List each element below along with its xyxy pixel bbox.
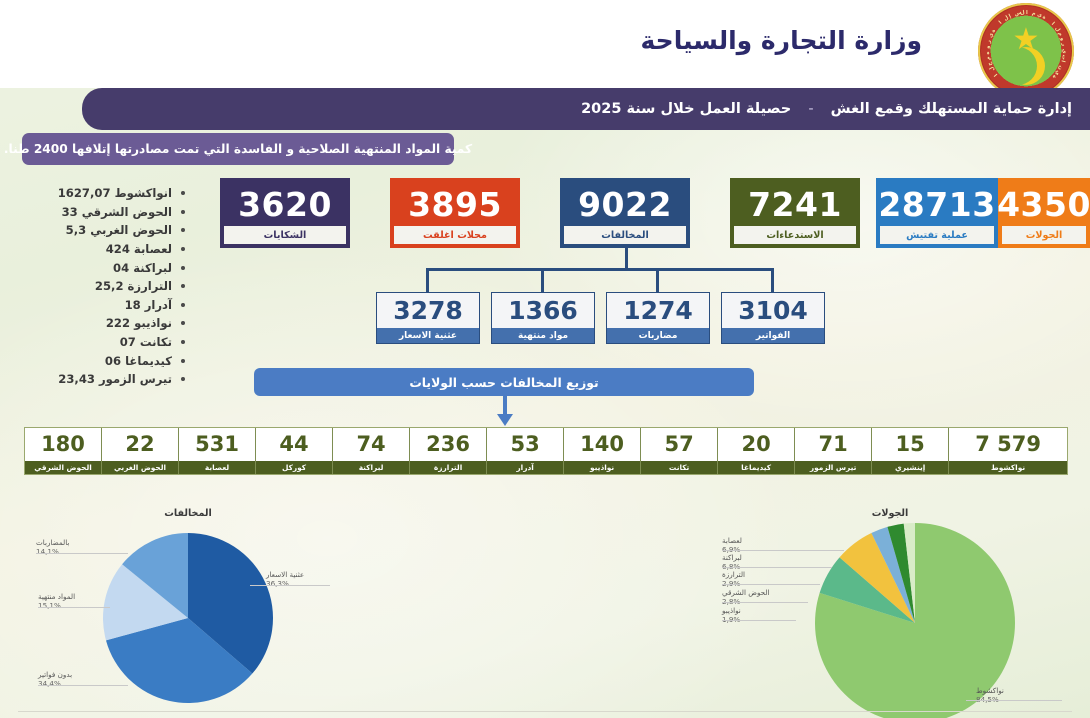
- state-label: تكانت: [641, 461, 717, 474]
- pie-leader-line: [722, 584, 820, 585]
- state-value: 20: [718, 428, 794, 461]
- violations-pie-title: المخالفات: [28, 508, 348, 519]
- section-ribbon: إدارة حماية المستهلك وقمع الغش - حصيلة ا…: [82, 88, 1090, 130]
- kpi-value: 4350: [1002, 182, 1086, 226]
- state-value: 22: [102, 428, 178, 461]
- table-row[interactable]: 7 579نواكشوط: [948, 428, 1067, 474]
- pie-leader-line: [966, 700, 1062, 701]
- kpi-card[interactable]: 9022المخالفات: [560, 178, 690, 248]
- bullet-dot-icon: [181, 228, 185, 232]
- state-label: كوركل: [256, 461, 332, 474]
- seized-item-text: كيديماغا 06: [105, 354, 172, 368]
- kpi-card[interactable]: 3895محلات اغلقت: [390, 178, 520, 248]
- ribbon-department: إدارة حماية المستهلك وقمع الغش: [831, 101, 1072, 117]
- violation-breakdown-card[interactable]: 1274مضاربات: [606, 292, 710, 344]
- seized-goods-banner: كمية المواد المنتهية الصلاحية و الفاسدة …: [22, 133, 454, 165]
- pie-label: نواذيبو1,9%: [722, 606, 741, 624]
- table-row[interactable]: 53آدرار: [486, 428, 563, 474]
- pie-leader-line: [38, 685, 128, 686]
- bullet-dot-icon: [181, 210, 185, 214]
- connector-vertical-main: [625, 248, 628, 270]
- table-row[interactable]: 22الحوض الغربي: [101, 428, 178, 474]
- tours-pie-chart: الجولات لعصابة6,9%لبراكنة6,8%الترارزة2,9…: [700, 508, 1080, 718]
- pie-label-name: لعصابة: [722, 536, 742, 545]
- violation-breakdown-label: الفواتير: [722, 328, 824, 343]
- table-row[interactable]: 71تيرس الزمور: [794, 428, 871, 474]
- pie-label-name: لبراكنة: [722, 553, 742, 562]
- list-item: لعصابة 424: [13, 240, 185, 259]
- state-label: تيرس الزمور: [795, 461, 871, 474]
- page-header: وزارة التجارة والسياحة ★ الجمهورية الإسل…: [0, 0, 1090, 88]
- table-row[interactable]: 531لعصابة: [178, 428, 255, 474]
- seized-item-text: آدرار 18: [125, 298, 172, 312]
- bullet-dot-icon: [181, 191, 185, 195]
- state-label: الحوض الغربي: [102, 461, 178, 474]
- state-value: 57: [641, 428, 717, 461]
- state-value: 15: [872, 428, 948, 461]
- emblem-ring-text: الجمهورية الإسلامية الموريتانية: [978, 3, 1074, 99]
- state-label: نواكشوط: [949, 461, 1067, 474]
- violation-breakdown-label: عثنية الاسعار: [377, 328, 479, 343]
- pie-label: نواكشوط84,5%: [976, 686, 1004, 704]
- kpi-value: 7241: [734, 182, 856, 226]
- violation-breakdown-card[interactable]: 1366مواد منتهية: [491, 292, 595, 344]
- table-row[interactable]: 20كيديماغا: [717, 428, 794, 474]
- bottom-divider: [18, 711, 1072, 712]
- pie-label-value: 15,1%: [38, 601, 75, 610]
- state-label: لبراكنة: [333, 461, 409, 474]
- state-label: الحوض الشرقي: [25, 461, 101, 474]
- infographic-page: وزارة التجارة والسياحة ★ الجمهورية الإسل…: [0, 0, 1090, 718]
- bullet-dot-icon: [181, 247, 185, 251]
- table-row[interactable]: 15إينشيري: [871, 428, 948, 474]
- seized-item-text: انواكشوط 1627,07: [58, 186, 172, 200]
- kpi-label: عملية تفتيش: [880, 226, 994, 244]
- connector-horizontal: [426, 268, 774, 271]
- pie-label: لعصابة6,9%: [722, 536, 742, 554]
- state-label: الترارزة: [410, 461, 486, 474]
- table-row[interactable]: 140نواذيبو: [563, 428, 640, 474]
- pie-label-name: نواذيبو: [722, 606, 741, 615]
- list-item: نواذيبو 222: [13, 314, 185, 333]
- table-row[interactable]: 236الترارزة: [409, 428, 486, 474]
- connector-drop-2: [541, 268, 544, 292]
- seized-item-text: لبراكنة 04: [113, 261, 172, 275]
- bullet-dot-icon: [181, 266, 185, 270]
- state-label: إينشيري: [872, 461, 948, 474]
- states-table: 7 579نواكشوط15إينشيري71تيرس الزمور20كيدي…: [24, 427, 1068, 475]
- state-value: 531: [179, 428, 255, 461]
- arrow-down-icon: [497, 396, 513, 426]
- pie-label-name: المواد منتهية: [38, 592, 75, 601]
- seized-item-text: الترارزة 25,2: [95, 279, 172, 293]
- violation-breakdown-value: 3104: [722, 293, 824, 328]
- pie-label-value: 36,3%: [266, 579, 304, 588]
- kpi-value: 9022: [564, 182, 686, 226]
- state-value: 180: [25, 428, 101, 461]
- state-label: لعصابة: [179, 461, 255, 474]
- state-label: نواذيبو: [564, 461, 640, 474]
- violation-breakdown-card[interactable]: 3278عثنية الاسعار: [376, 292, 480, 344]
- pie-label: لبراكنة6,8%: [722, 553, 742, 571]
- list-item: الحوض الغربي 5,3: [13, 221, 185, 240]
- states-distribution-label: توزيع المخالفات حسب الولايات: [409, 375, 598, 390]
- national-emblem-icon: ★ الجمهورية الإسلامية الموريتانية: [978, 3, 1074, 99]
- pie-label-name: بدون فواتير: [38, 670, 72, 679]
- kpi-card[interactable]: 4350الجولات: [998, 178, 1090, 248]
- ribbon-text: إدارة حماية المستهلك وقمع الغش - حصيلة ا…: [581, 101, 1072, 117]
- state-value: 71: [795, 428, 871, 461]
- violation-breakdown-value: 1274: [607, 293, 709, 328]
- pie-leader-line: [722, 567, 832, 568]
- pie-label: الترارزة2,9%: [722, 570, 745, 588]
- seized-item-text: تيرس الزمور 23,43: [58, 372, 172, 386]
- kpi-card[interactable]: 28713عملية تفتيش: [876, 178, 998, 248]
- state-value: 53: [487, 428, 563, 461]
- state-value: 236: [410, 428, 486, 461]
- kpi-label: الشكايات: [224, 226, 346, 244]
- pie-leader-line: [36, 553, 128, 554]
- list-item: انواكشوط 1627,07: [13, 184, 185, 203]
- bullet-dot-icon: [181, 359, 185, 363]
- pie-label: الحوض الشرقي2,8%: [722, 588, 770, 606]
- pie-label-name: بالمضاربات: [36, 538, 69, 547]
- seized-goods-list: انواكشوط 1627,07الحوض الشرقي 33الحوض الغ…: [13, 184, 185, 389]
- seized-item-text: تكانت 07: [120, 335, 172, 349]
- state-value: 140: [564, 428, 640, 461]
- seized-goods-banner-label: كمية المواد المنتهية الصلاحية و الفاسدة …: [4, 142, 472, 156]
- states-distribution-banner: توزيع المخالفات حسب الولايات: [254, 368, 754, 396]
- violation-breakdown-value: 3278: [377, 293, 479, 328]
- pie-label-name: الترارزة: [722, 570, 745, 579]
- violation-breakdown-value: 1366: [492, 293, 594, 328]
- list-item: تكانت 07: [13, 333, 185, 352]
- bullet-dot-icon: [181, 377, 185, 381]
- kpi-value: 3895: [394, 182, 516, 226]
- violation-breakdown-label: مواد منتهية: [492, 328, 594, 343]
- kpi-value: 3620: [224, 182, 346, 226]
- state-value: 74: [333, 428, 409, 461]
- bullet-dot-icon: [181, 284, 185, 288]
- bullet-dot-icon: [181, 303, 185, 307]
- tours-pie-svg: [700, 508, 1080, 718]
- seized-item-text: لعصابة 424: [106, 242, 172, 256]
- kpi-card[interactable]: 3620الشكايات: [220, 178, 350, 248]
- connector-drop-1: [426, 268, 429, 292]
- pie-label-value: 34,4%: [38, 679, 72, 688]
- seized-item-text: الحوض الغربي 5,3: [66, 223, 172, 237]
- kpi-label: المخالفات: [564, 226, 686, 244]
- list-item: كيديماغا 06: [13, 351, 185, 370]
- list-item: آدرار 18: [13, 296, 185, 315]
- pie-leader-line: [722, 620, 796, 621]
- connector-drop-4: [771, 268, 774, 292]
- table-row[interactable]: 74لبراكنة: [332, 428, 409, 474]
- table-row[interactable]: 44كوركل: [255, 428, 332, 474]
- pie-leader-line: [722, 602, 808, 603]
- pie-leader-line: [250, 585, 330, 586]
- bullet-dot-icon: [181, 321, 185, 325]
- pie-leader-line: [722, 550, 844, 551]
- state-value: 7 579: [949, 428, 1067, 461]
- kpi-value: 28713: [880, 182, 994, 226]
- state-label: كيديماغا: [718, 461, 794, 474]
- connector-drop-3: [656, 268, 659, 292]
- pie-label-name: عثنية الاسعار: [266, 570, 304, 579]
- table-row[interactable]: 180الحوض الشرقي: [25, 428, 101, 474]
- page-title: وزارة التجارة والسياحة: [641, 26, 922, 55]
- state-label: آدرار: [487, 461, 563, 474]
- violation-breakdown-label: مضاربات: [607, 328, 709, 343]
- kpi-card[interactable]: 7241الاستدعاءات: [730, 178, 860, 248]
- ribbon-subject: حصيلة العمل خلال سنة 2025: [581, 101, 791, 117]
- list-item: لبراكنة 04: [13, 258, 185, 277]
- kpi-label: الاستدعاءات: [734, 226, 856, 244]
- violation-breakdown-card[interactable]: 3104الفواتير: [721, 292, 825, 344]
- state-value: 44: [256, 428, 332, 461]
- bullet-dot-icon: [181, 340, 185, 344]
- tours-pie-title: الجولات: [700, 508, 1080, 519]
- pie-leader-line: [38, 607, 110, 608]
- seized-item-text: نواذيبو 222: [106, 316, 172, 330]
- list-item: تيرس الزمور 23,43: [13, 370, 185, 389]
- list-item: الحوض الشرقي 33: [13, 203, 185, 222]
- table-row[interactable]: 57تكانت: [640, 428, 717, 474]
- ribbon-separator: -: [808, 101, 813, 117]
- list-item: الترارزة 25,2: [13, 277, 185, 296]
- pie-label-name: نواكشوط: [976, 686, 1004, 695]
- seized-item-text: الحوض الشرقي 33: [62, 205, 172, 219]
- pie-label-value: 14,1%: [36, 547, 69, 556]
- violations-pie-chart: المخالفات بالمضاربات14,1%المواد منتهية15…: [28, 508, 348, 716]
- pie-label-name: الحوض الشرقي: [722, 588, 770, 597]
- kpi-label: الجولات: [1002, 226, 1086, 244]
- kpi-label: محلات اغلقت: [394, 226, 516, 244]
